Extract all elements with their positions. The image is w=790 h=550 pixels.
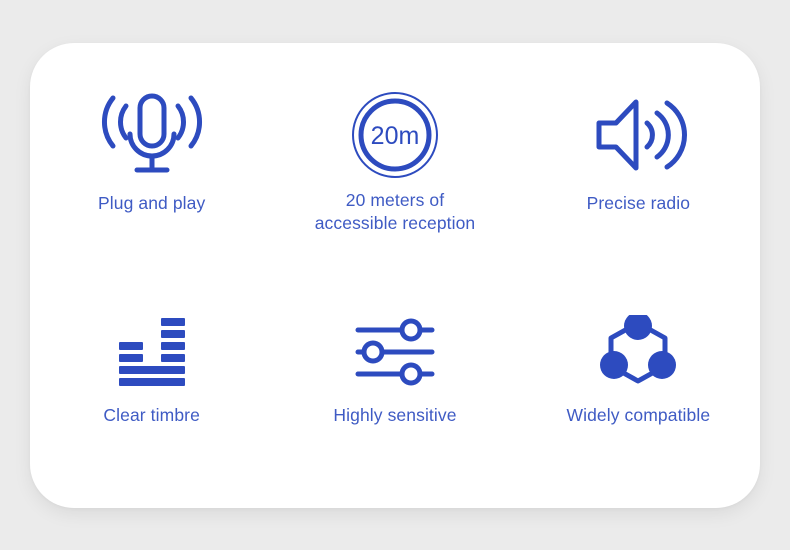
sliders-icon bbox=[352, 316, 438, 388]
microphone-icon bbox=[97, 90, 207, 182]
feature-label: Precise radio bbox=[587, 192, 690, 215]
feature-label: Plug and play bbox=[98, 192, 205, 215]
feature-label: 20 meters of accessible reception bbox=[315, 189, 476, 235]
feature-highly-sensitive: Highly sensitive bbox=[273, 276, 516, 509]
feature-precise-radio: Precise radio bbox=[517, 43, 760, 276]
feature-panel: Plug and play 20m 20 meters of accessibl… bbox=[0, 0, 790, 550]
feature-label: Highly sensitive bbox=[333, 404, 456, 427]
molecule-hexagon-icon bbox=[600, 315, 676, 389]
equalizer-bars-icon bbox=[117, 316, 187, 388]
equalizer-bars-icon-wrap bbox=[117, 308, 187, 396]
range-badge-text: 20m bbox=[371, 122, 420, 150]
molecule-hexagon-icon-wrap bbox=[600, 308, 676, 396]
feature-card: Plug and play 20m 20 meters of accessibl… bbox=[30, 43, 760, 508]
range-circle-20m-icon-wrap: 20m bbox=[345, 88, 445, 184]
feature-widely-compatible: Widely compatible bbox=[517, 276, 760, 509]
feature-plug-and-play: Plug and play bbox=[30, 43, 273, 276]
feature-20-meters-reception: 20m 20 meters of accessible reception bbox=[273, 43, 516, 276]
microphone-icon-wrap bbox=[97, 88, 207, 184]
range-circle-20m-icon: 20m bbox=[345, 90, 445, 182]
speaker-waves-icon bbox=[588, 90, 688, 182]
sliders-icon-wrap bbox=[352, 308, 438, 396]
feature-clear-timbre: Clear timbre bbox=[30, 276, 273, 509]
feature-label: Widely compatible bbox=[566, 404, 710, 427]
feature-label: Clear timbre bbox=[103, 404, 200, 427]
feature-grid: Plug and play 20m 20 meters of accessibl… bbox=[30, 43, 760, 508]
speaker-waves-icon-wrap bbox=[588, 88, 688, 184]
